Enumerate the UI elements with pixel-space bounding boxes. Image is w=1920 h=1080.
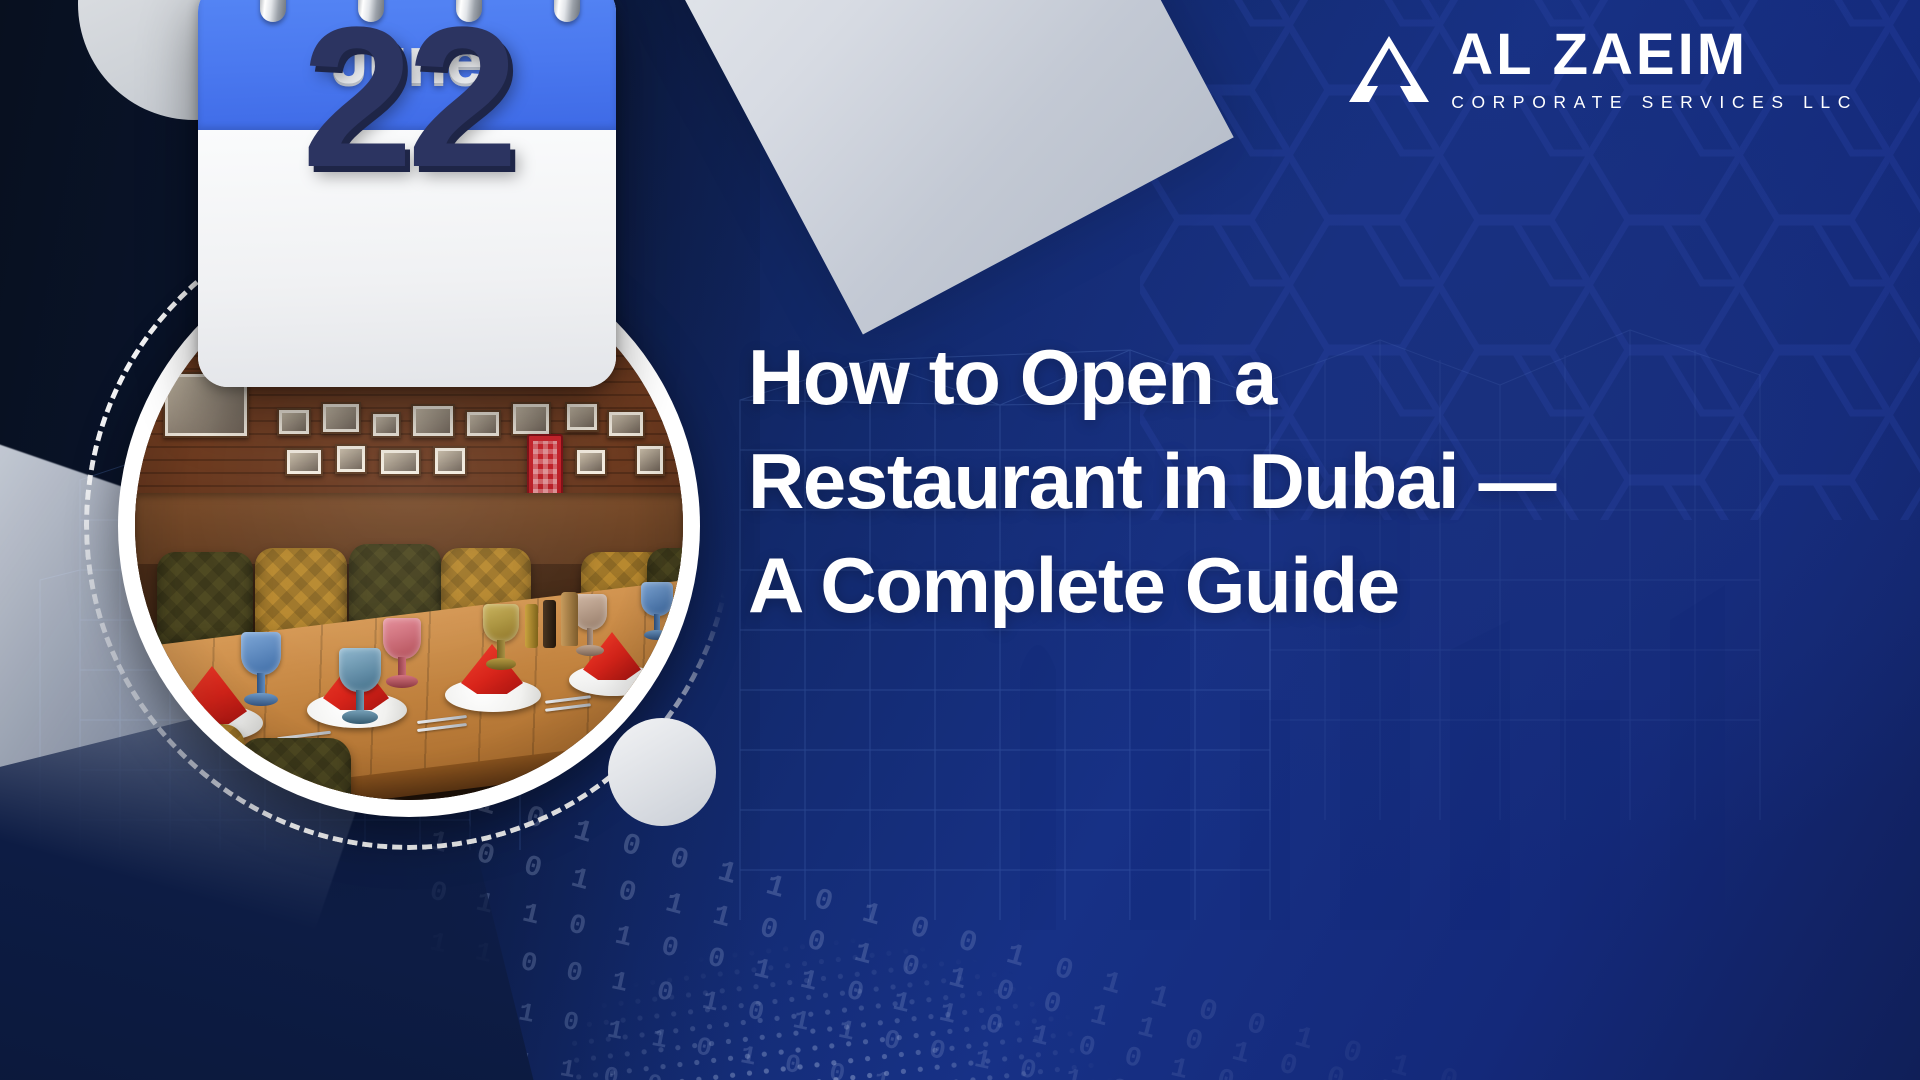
pepper-mill	[561, 592, 578, 646]
condiment-bottle	[543, 600, 556, 648]
goblet	[241, 632, 281, 706]
goblet	[641, 582, 673, 640]
chair	[239, 738, 351, 800]
chair	[135, 724, 245, 800]
calendar-ring	[456, 0, 482, 22]
goblet	[383, 618, 421, 688]
headline-line-2: Restaurant in Dubai —	[748, 429, 1868, 533]
calendar-day: 22	[198, 0, 616, 198]
wall-frame	[511, 402, 551, 436]
wall-frame	[335, 444, 367, 474]
wall-frame	[285, 448, 323, 476]
chevron-a-logo-icon	[1347, 34, 1431, 104]
goblet	[573, 594, 607, 656]
headline-line-1: How to Open a	[748, 325, 1868, 429]
wall-frame	[465, 410, 501, 438]
wall-frame	[607, 410, 645, 438]
decorative-circle	[608, 718, 716, 826]
headline-line-3: A Complete Guide	[748, 533, 1868, 637]
calendar-ring	[358, 0, 384, 22]
calendar-ring	[554, 0, 580, 22]
promo-banner: 0 1 0 1 0 0 1 1 0 1 0 0 1 0 1 1 0 0 1 0 …	[0, 0, 1920, 1080]
wall-frame	[379, 448, 421, 476]
calendar-ring	[260, 0, 286, 22]
wall-frame	[433, 446, 467, 476]
calendar-icon: June 22	[198, 0, 616, 387]
wall-frame	[321, 402, 361, 434]
goblet	[483, 604, 519, 670]
wall-frame	[635, 444, 665, 476]
goblet	[339, 648, 381, 724]
wall-frame	[565, 402, 599, 432]
page-title: How to Open a Restaurant in Dubai — A Co…	[748, 325, 1868, 637]
brand-tagline: CORPORATE SERVICES LLC	[1451, 94, 1858, 112]
brand-name: AL ZAEIM	[1451, 26, 1858, 84]
brand-logo[interactable]: AL ZAEIM CORPORATE SERVICES LLC	[1347, 26, 1858, 112]
wall-frame	[371, 412, 401, 438]
calendar-rings	[198, 0, 616, 22]
wall-frame	[277, 408, 311, 436]
wall-frame	[575, 448, 607, 476]
condiment-bottle	[525, 604, 538, 648]
wall-frame	[411, 404, 455, 438]
